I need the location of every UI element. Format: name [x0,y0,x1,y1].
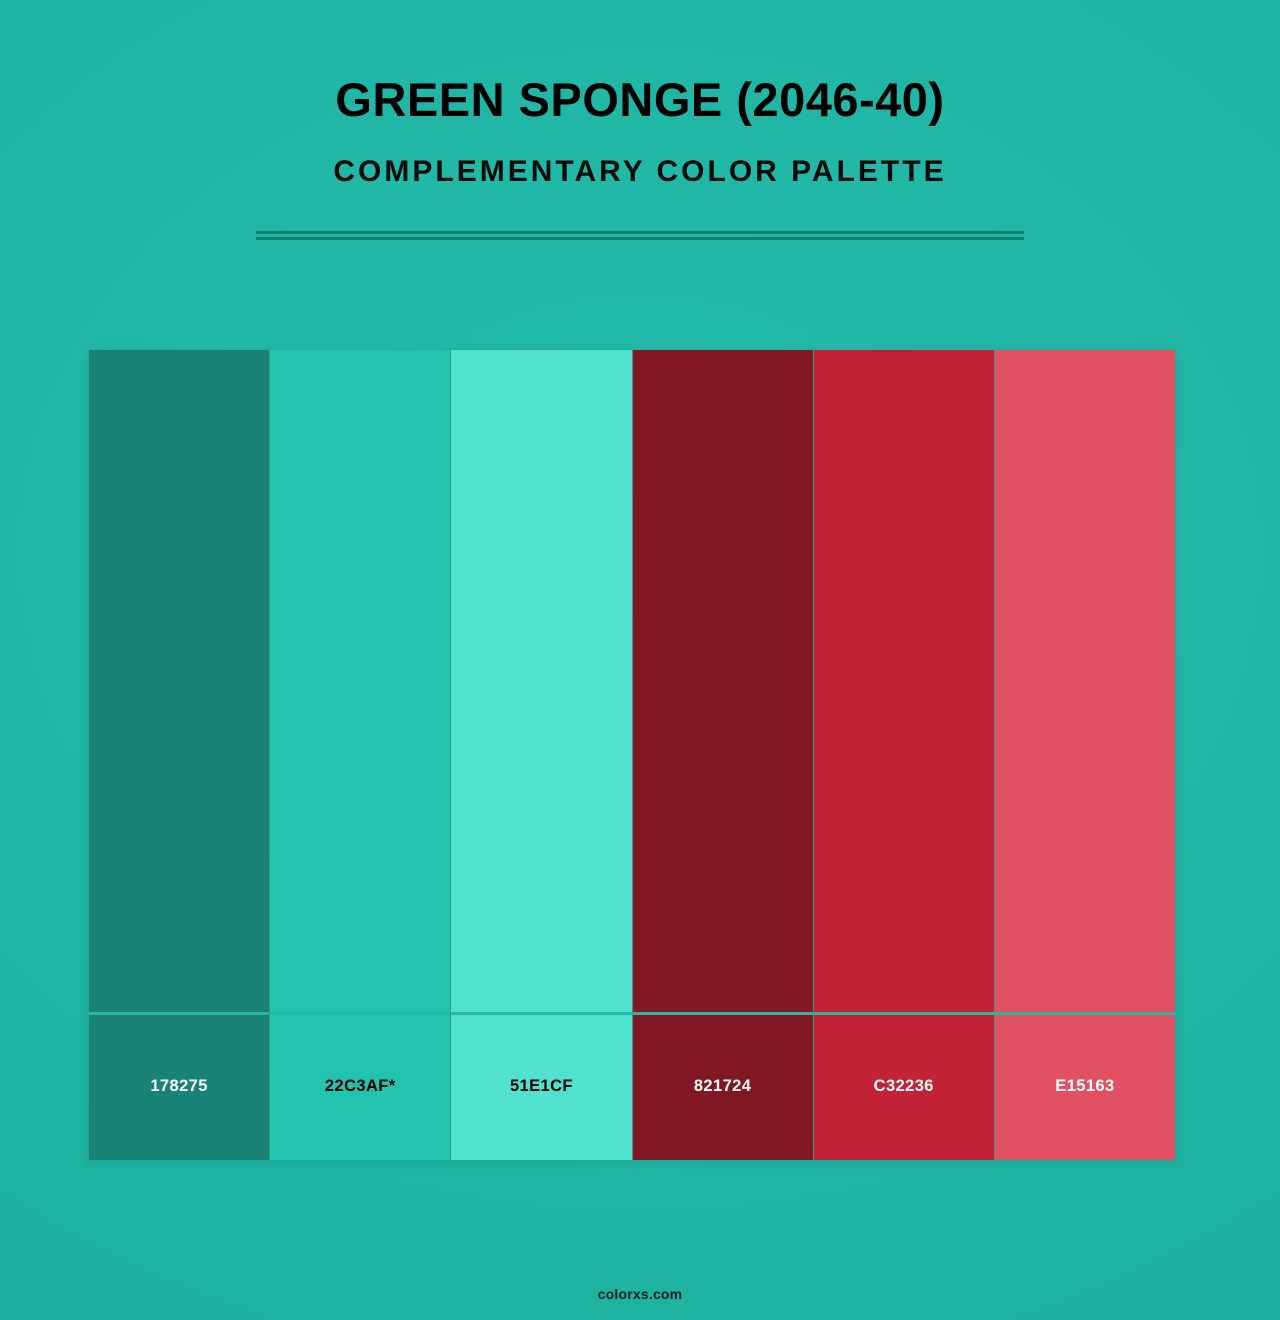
swatch-label-area: 178275 [89,1015,269,1160]
divider-line-top [256,231,1024,234]
color-swatch[interactable]: 178275 [89,350,270,1160]
page-subtitle: COMPLEMENTARY COLOR PALETTE [0,126,1280,188]
swatch-color-block [633,350,813,1012]
title-divider [256,231,1024,240]
swatch-label-area: 51E1CF [451,1015,631,1160]
swatch-color-block [451,350,631,1012]
swatch-hex-label: C32236 [874,1078,934,1095]
color-swatch[interactable]: 821724 [633,350,814,1160]
swatch-label-area: 22C3AF* [270,1015,450,1160]
swatch-label-area: 821724 [633,1015,813,1160]
swatch-hex-label: 178275 [150,1078,207,1095]
swatch-hex-label: E15163 [1055,1078,1114,1095]
header: GREEN SPONGE (2046-40) COMPLEMENTARY COL… [0,0,1280,188]
swatch-hex-label: 51E1CF [510,1078,573,1095]
swatch-hex-label: 821724 [694,1078,751,1095]
swatch-color-block [89,350,269,1012]
color-swatch[interactable]: 51E1CF [451,350,632,1160]
swatch-color-block [270,350,450,1012]
footer-site-label: colorxs.com [0,1286,1280,1302]
color-swatch[interactable]: E15163 [995,350,1175,1160]
color-palette: 17827522C3AF*51E1CF821724C32236E15163 [89,350,1175,1160]
swatch-color-block [995,350,1175,1012]
page-title: GREEN SPONGE (2046-40) [0,0,1280,126]
swatch-label-area: E15163 [995,1015,1175,1160]
page-background: GREEN SPONGE (2046-40) COMPLEMENTARY COL… [0,0,1280,1320]
swatch-label-area: C32236 [814,1015,994,1160]
color-swatch[interactable]: C32236 [814,350,995,1160]
divider-line-bottom [256,237,1024,240]
swatch-color-block [814,350,994,1012]
swatch-hex-label: 22C3AF* [325,1078,396,1095]
color-swatch[interactable]: 22C3AF* [270,350,451,1160]
